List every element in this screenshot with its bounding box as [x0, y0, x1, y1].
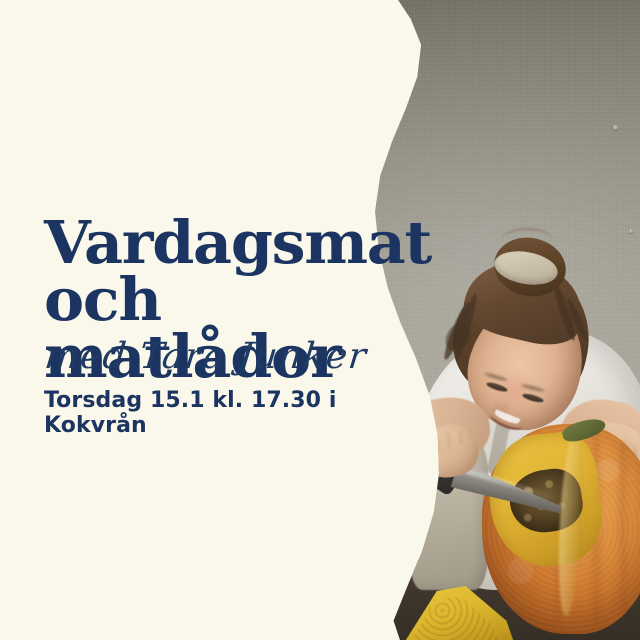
presenter-line: med Tara Junker [43, 336, 369, 377]
event-poster: Vardagsmat och matlådor med Tara Junker … [0, 0, 640, 640]
flyaway-hair [500, 228, 554, 256]
text-panel: Vardagsmat och matlådor med Tara Junker … [0, 0, 400, 640]
event-datetime-line: Torsdag 15.1 kl. 17.30 i Kokvrån [44, 388, 400, 438]
